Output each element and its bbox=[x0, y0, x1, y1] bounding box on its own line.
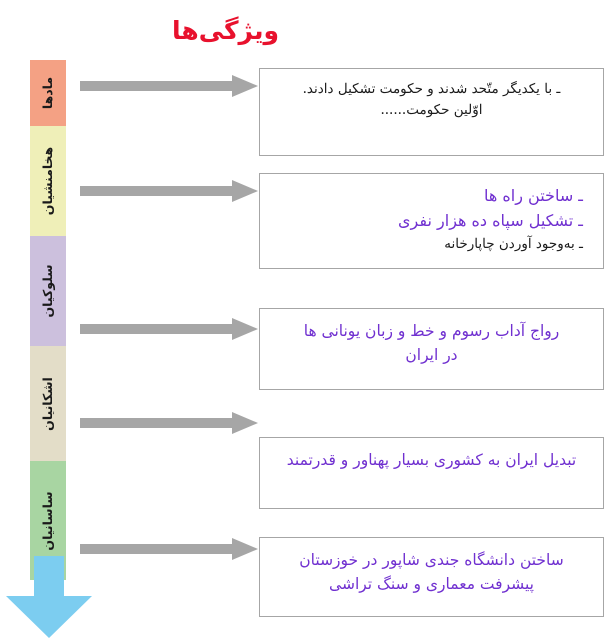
box-seleucian[interactable]: رواج آداب رسوم و خط و زبان یونانی هادر ا… bbox=[259, 308, 604, 390]
feature-line: اوّلین حکومت...... bbox=[274, 100, 589, 121]
era-label-5: ساسانیان bbox=[42, 491, 55, 550]
box-sasanian[interactable]: ساختن دانشگاه جندی شاپور در خوزستانپیشرف… bbox=[259, 537, 604, 617]
box-madha[interactable]: ـ با یکدیگر متّحد شدند و حکومت تشکیل داد… bbox=[259, 68, 604, 156]
feature-text-group: ـ با یکدیگر متّحد شدند و حکومت تشکیل داد… bbox=[274, 79, 589, 121]
feature-line: تبدیل ایران به کشوری بسیار پهناور و قدرت… bbox=[274, 448, 589, 472]
connector-arrow-3 bbox=[80, 318, 258, 340]
feature-line: ـ تشکیل سپاه ده هزار نفری bbox=[274, 209, 583, 234]
connector-arrow-2 bbox=[80, 180, 258, 202]
box-ashkanian[interactable]: تبدیل ایران به کشوری بسیار پهناور و قدرت… bbox=[259, 437, 604, 509]
connector-arrow-5 bbox=[80, 538, 258, 560]
feature-line: ـ ساختن راه ها bbox=[274, 184, 583, 209]
connector-arrow-4 bbox=[80, 412, 258, 434]
connector-arrow-1 bbox=[80, 75, 258, 97]
feature-line: ساختن دانشگاه جندی شاپور در خوزستان bbox=[274, 548, 589, 572]
era-timeline: مادهاهخامنشیانسلوکیاناشکانیانساسانیان bbox=[30, 60, 66, 580]
page-title: ویژگی‌ها bbox=[0, 18, 611, 43]
feature-line: ـ با یکدیگر متّحد شدند و حکومت تشکیل داد… bbox=[274, 79, 589, 100]
era-band-4[interactable]: اشکانیان bbox=[30, 346, 66, 461]
era-label-3: سلوکیان bbox=[42, 265, 55, 318]
feature-line: پیشرفت معماری و سنگ تراشی bbox=[274, 572, 589, 596]
timeline-down-arrow bbox=[4, 556, 94, 638]
era-band-3[interactable]: سلوکیان bbox=[30, 236, 66, 346]
era-label-2: هخامنشیان bbox=[42, 147, 55, 215]
feature-text-group: رواج آداب رسوم و خط و زبان یونانی هادر ا… bbox=[274, 319, 589, 367]
era-band-1[interactable]: مادها bbox=[30, 60, 66, 126]
era-band-2[interactable]: هخامنشیان bbox=[30, 126, 66, 236]
box-hakhamaneshian[interactable]: ـ ساختن راه هاـ تشکیل سپاه ده هزار نفریـ… bbox=[259, 173, 604, 269]
feature-text-group: ـ ساختن راه هاـ تشکیل سپاه ده هزار نفریـ… bbox=[274, 184, 589, 255]
feature-line: ـ به‌وجود آوردن چاپارخانه bbox=[274, 234, 583, 255]
era-label-4: اشکانیان bbox=[42, 377, 55, 431]
era-label-1: مادها bbox=[42, 77, 55, 109]
feature-text-group: ساختن دانشگاه جندی شاپور در خوزستانپیشرف… bbox=[274, 548, 589, 596]
feature-line: رواج آداب رسوم و خط و زبان یونانی ها bbox=[274, 319, 589, 343]
feature-text-group: تبدیل ایران به کشوری بسیار پهناور و قدرت… bbox=[274, 448, 589, 472]
feature-line: در ایران bbox=[274, 343, 589, 367]
